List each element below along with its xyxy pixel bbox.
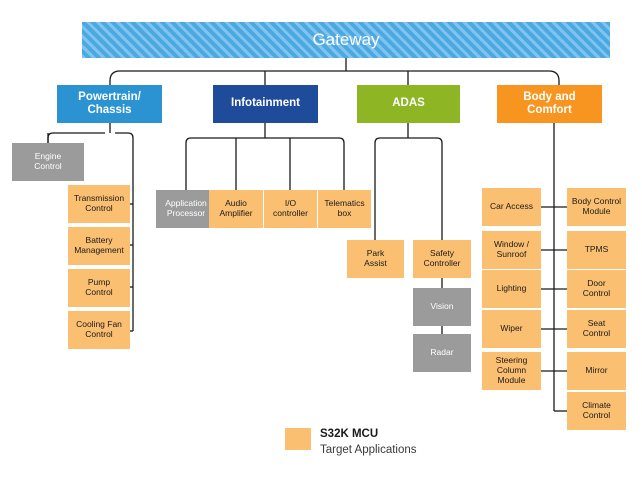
- node-park-assist[interactable]: Park Assist: [347, 240, 404, 278]
- node-transmission-control[interactable]: Transmission Control: [68, 185, 130, 223]
- node-cooling-fan-control[interactable]: Cooling Fan Control: [68, 311, 130, 349]
- node-safety-controller[interactable]: Safety Controller: [413, 240, 471, 278]
- node-steering-column-module[interactable]: Steering Column Module: [482, 352, 541, 390]
- node-application-processor[interactable]: Application Processor: [156, 190, 216, 228]
- node-wiper[interactable]: Wiper: [482, 310, 541, 348]
- node-vision[interactable]: Vision: [413, 288, 471, 326]
- category-adas[interactable]: ADAS: [357, 85, 460, 123]
- node-body-control-module[interactable]: Body Control Module: [567, 188, 626, 226]
- node-climate-control[interactable]: Climate Control: [567, 392, 626, 430]
- node-pump-control[interactable]: Pump Control: [68, 269, 130, 307]
- node-engine-control[interactable]: Engine Control: [12, 143, 84, 181]
- node-telematics-box[interactable]: Telematics box: [318, 190, 371, 228]
- node-seat-control[interactable]: Seat Control: [567, 310, 626, 348]
- gateway-node[interactable]: Gateway: [82, 22, 610, 58]
- node-audio-amplifier[interactable]: Audio Amplifier: [209, 190, 263, 228]
- node-window-sunroof[interactable]: Window / Sunroof: [482, 231, 541, 269]
- category-infotainment[interactable]: Infotainment: [213, 85, 318, 123]
- node-door-control[interactable]: Door Control: [567, 270, 626, 308]
- node-lighting[interactable]: Lighting: [482, 270, 541, 308]
- node-tpms[interactable]: TPMS: [567, 231, 626, 269]
- legend-swatch: [285, 428, 311, 450]
- diagram-canvas: Gateway Powertrain/ Chassis Infotainment…: [0, 0, 642, 485]
- node-battery-management[interactable]: Battery Management: [68, 227, 130, 265]
- node-io-controller[interactable]: I/O controller: [264, 190, 317, 228]
- legend-title: S32K MCU: [320, 427, 520, 443]
- legend-text: S32K MCU Target Applications: [320, 427, 520, 458]
- node-radar[interactable]: Radar: [413, 334, 471, 372]
- category-powertrain-chassis[interactable]: Powertrain/ Chassis: [57, 85, 162, 123]
- legend-subtitle: Target Applications: [320, 443, 520, 459]
- category-body-and-comfort[interactable]: Body and Comfort: [497, 85, 602, 123]
- node-car-access[interactable]: Car Access: [482, 188, 541, 226]
- node-mirror[interactable]: Mirror: [567, 352, 626, 390]
